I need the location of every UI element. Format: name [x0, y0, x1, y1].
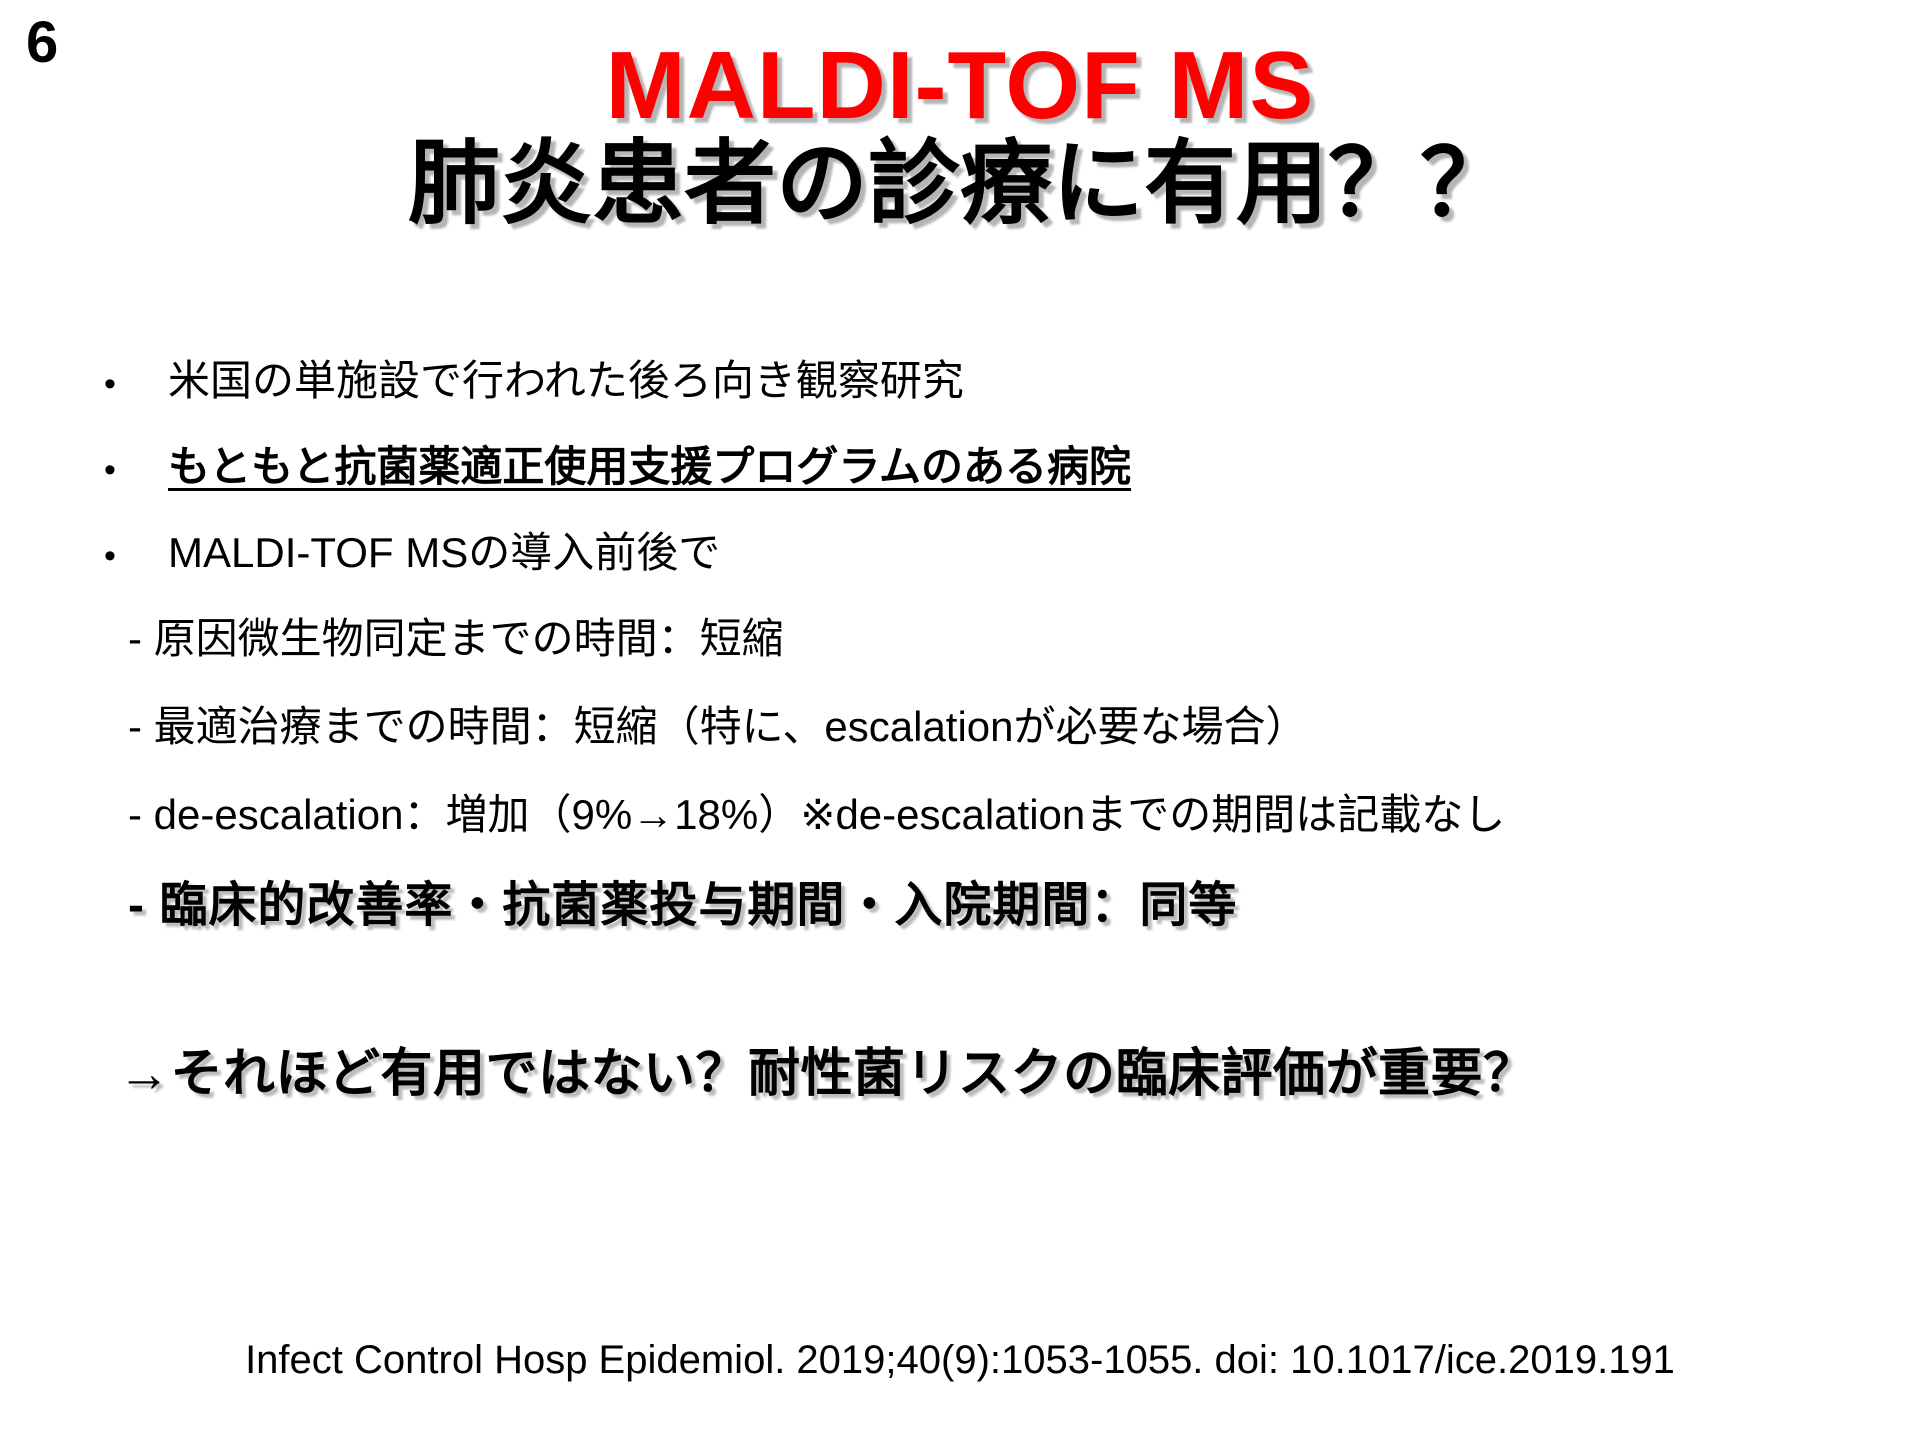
list-item-label: もともと抗菌薬適正使用支援プログラムのある病院 — [168, 446, 1131, 488]
page-title: MALDI-TOF MS — [0, 34, 1920, 138]
list-item-label: MALDI-TOF MSの導入前後で — [168, 532, 720, 574]
sub-list-item: - 原因微生物同定までの時間：短縮 — [0, 618, 1920, 706]
bullet-icon: • — [104, 367, 168, 401]
list-item: • MALDI-TOF MSの導入前後で — [0, 532, 1920, 618]
sub-list-item-emphasis: - 臨床的改善率・抗菌薬投与期間・入院期間：同等 — [0, 882, 1920, 986]
sub-list-item: - de-escalation：増加（9%→18%）※de-escalation… — [0, 794, 1920, 882]
bullet-icon: • — [104, 539, 168, 573]
list-item: • 米国の単施設で行われた後ろ向き観察研究 — [0, 360, 1920, 446]
list-item-label: 米国の単施設で行われた後ろ向き観察研究 — [168, 360, 964, 402]
slide-canvas: 6 MALDI-TOF MS 肺炎患者の診療に有用？？ • 米国の単施設で行われ… — [0, 0, 1920, 1440]
list-item: • もともと抗菌薬適正使用支援プログラムのある病院 — [0, 446, 1920, 532]
body-content: • 米国の単施設で行われた後ろ向き観察研究 • もともと抗菌薬適正使用支援プログ… — [0, 360, 1920, 1100]
citation-reference: Infect Control Hosp Epidemiol. 2019;40(9… — [0, 1340, 1920, 1380]
bullet-icon: • — [104, 453, 168, 487]
title-block: MALDI-TOF MS 肺炎患者の診療に有用？？ — [0, 34, 1920, 235]
page-subtitle: 肺炎患者の診療に有用？？ — [0, 134, 1920, 235]
conclusion-text: →それほど有用ではない？耐性菌リスクの臨床評価が重要？ — [0, 1048, 1920, 1100]
sub-list-item: - 最適治療までの時間：短縮（特に、escalationが必要な場合） — [0, 706, 1920, 794]
